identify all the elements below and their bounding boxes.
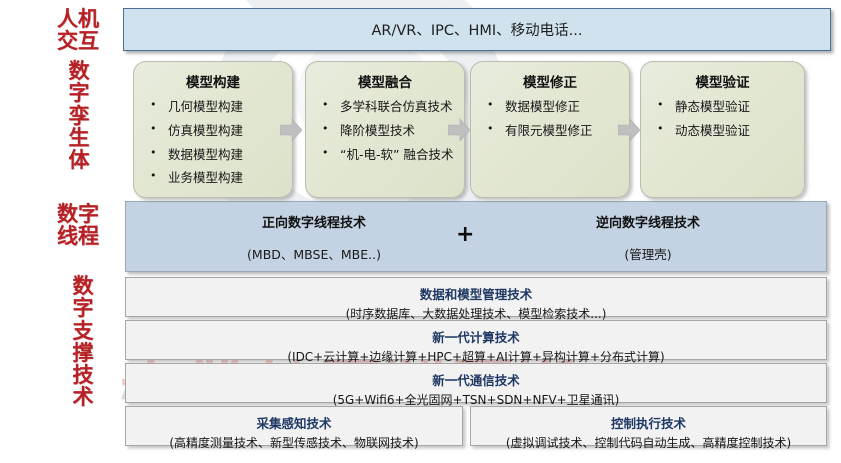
stage-list-item: 降阶模型技术 [320,124,464,138]
forward-thread-title: 正向数字线程技术 [184,212,444,231]
banner-label: AR/VR、IPC、HMI、移动电话... [371,19,582,40]
category-rail: 人机 交互 数 字 孪 生 体 数字 线程 数 字 支 撑 技 术 [0,0,118,463]
rail-char: 数 [62,275,104,297]
stage-list-item: 几何模型构建 [148,100,292,114]
reverse-thread-sub: (管理壳) [518,244,778,263]
digital-thread-band: 正向数字线程技术 (MBD、MBSE、MBE..) + 逆向数字线程技术 (管理… [125,201,827,272]
rail-char: 字 [58,82,100,104]
support-title: 数据和模型管理技术 [126,284,826,303]
stage-list-item: 数据模型构建 [148,148,292,162]
rail-line: 人机 [44,8,112,30]
rail-line: 线程 [44,225,112,247]
rail-char: 字 [62,297,104,319]
stage-box-model-construction[interactable]: 模型构建 几何模型构建 仿真模型构建 数据模型构建 业务模型构建 [133,61,293,198]
stage-box-model-validation[interactable]: 模型验证 静态模型验证 动态模型验证 [640,61,805,198]
arrow-right-icon [448,118,470,142]
rail-label-digital-thread: 数字 线程 [44,203,112,248]
forward-thread-group: 正向数字线程技术 (MBD、MBSE、MBE..) [184,212,444,263]
rail-char: 生 [58,127,100,149]
stage-box-model-fusion[interactable]: 模型融合 多学科联合仿真技术 降阶模型技术 “机-电-软” 融合技术 [305,61,465,198]
stage-list-item: 数据模型修正 [485,100,629,114]
arrow-right-icon [280,118,302,142]
interaction-layer-banner: AR/VR、IPC、HMI、移动电话... [123,8,831,51]
support-title: 新一代通信技术 [126,370,826,389]
support-title: 控制执行技术 [471,413,826,432]
stage-list-item: 业务模型构建 [148,171,292,185]
support-title: 采集感知技术 [126,413,462,432]
support-subtitle: (虚拟调试技术、控制代码自动生成、高精度控制技术) [471,434,826,451]
stage-title: 模型构建 [134,71,292,91]
stage-list-item: 动态模型验证 [655,124,804,138]
rail-label-human-machine-interaction: 人机 交互 [44,8,112,53]
rail-char: 体 [58,149,100,171]
reverse-thread-title: 逆向数字线程技术 [518,212,778,231]
stage-list-item: 多学科联合仿真技术 [320,100,464,114]
support-band-sensing-acquisition[interactable]: 采集感知技术 (高精度测量技术、新型传感技术、物联网技术) [125,406,463,446]
rail-char: 技 [62,364,104,386]
rail-char: 支 [62,320,104,342]
rail-label-digital-support-technology: 数 字 支 撑 技 术 [62,275,104,409]
support-band-data-model-management[interactable]: 数据和模型管理技术 (时序数据库、大数据处理技术、模型检索技术...) [125,277,827,317]
rail-char: 撑 [62,342,104,364]
stage-box-model-correction[interactable]: 模型修正 数据模型修正 有限元模型修正 [470,61,630,198]
stage-list-item: 仿真模型构建 [148,124,292,138]
rail-char: 孪 [58,105,100,127]
plus-symbol: + [456,222,474,247]
stage-item-list: 数据模型修正 有限元模型修正 [471,100,629,138]
rail-line: 交互 [44,30,112,52]
stage-list-item: “机-电-软” 融合技术 [320,148,464,162]
support-band-control-execution[interactable]: 控制执行技术 (虚拟调试技术、控制代码自动生成、高精度控制技术) [470,406,827,446]
stage-item-list: 几何模型构建 仿真模型构建 数据模型构建 业务模型构建 [134,100,292,185]
stage-title: 模型验证 [641,71,804,91]
arrow-right-icon [618,118,640,142]
stage-list-item: 静态模型验证 [655,100,804,114]
stage-title: 模型修正 [471,71,629,91]
support-band-next-gen-communication[interactable]: 新一代通信技术 (5G+Wifi6+全光固网+TSN+SDN+NFV+卫星通讯) [125,363,827,403]
stage-item-list: 多学科联合仿真技术 降阶模型技术 “机-电-软” 融合技术 [306,100,464,161]
diagram-content: AR/VR、IPC、HMI、移动电话... 正向数字线程技术 (MBD、MBSE… [118,0,841,463]
rail-label-digital-twin-body: 数 字 孪 生 体 [58,60,100,171]
stage-item-list: 静态模型验证 动态模型验证 [641,100,804,138]
rail-char: 术 [62,386,104,408]
stage-list-item: 有限元模型修正 [485,124,629,138]
stage-title: 模型融合 [306,71,464,91]
reverse-thread-group: 逆向数字线程技术 (管理壳) [518,212,778,263]
support-subtitle: (高精度测量技术、新型传感技术、物联网技术) [126,434,462,451]
support-band-next-gen-computing[interactable]: 新一代计算技术 (IDC+云计算+边缘计算+HPC+超算+AI计算+异构计算+分… [125,320,827,360]
rail-char: 数 [58,60,100,82]
support-title: 新一代计算技术 [126,327,826,346]
forward-thread-sub: (MBD、MBSE、MBE..) [184,244,444,263]
rail-line: 数字 [44,203,112,225]
